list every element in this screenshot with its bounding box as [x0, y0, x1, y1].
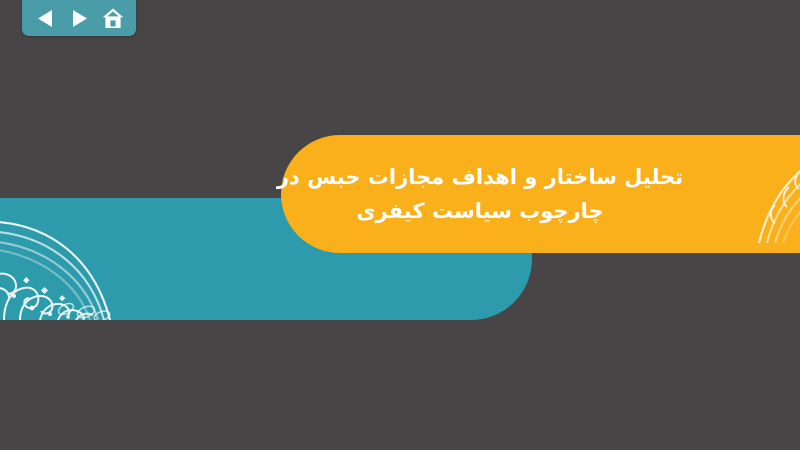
slide-title: تحلیل ساختار و اهداف مجازات حبس در چارچو… — [300, 135, 660, 253]
home-icon — [102, 8, 124, 29]
home-button[interactable] — [99, 5, 127, 31]
arabesque-ornament-yellow — [713, 135, 800, 243]
back-button[interactable] — [31, 5, 59, 31]
navigation-toolbar — [22, 0, 136, 36]
slide-title-line-1: تحلیل ساختار و اهداف مجازات حبس در — [277, 160, 683, 194]
triangle-right-icon — [71, 9, 88, 28]
slide-title-line-2: چارچوب سیاست کیفری — [356, 194, 603, 228]
triangle-left-icon — [37, 9, 54, 28]
slide-canvas: تحلیل ساختار و اهداف مجازات حبس در چارچو… — [0, 0, 800, 450]
arabesque-ornament-teal — [0, 216, 148, 320]
forward-button[interactable] — [65, 5, 93, 31]
